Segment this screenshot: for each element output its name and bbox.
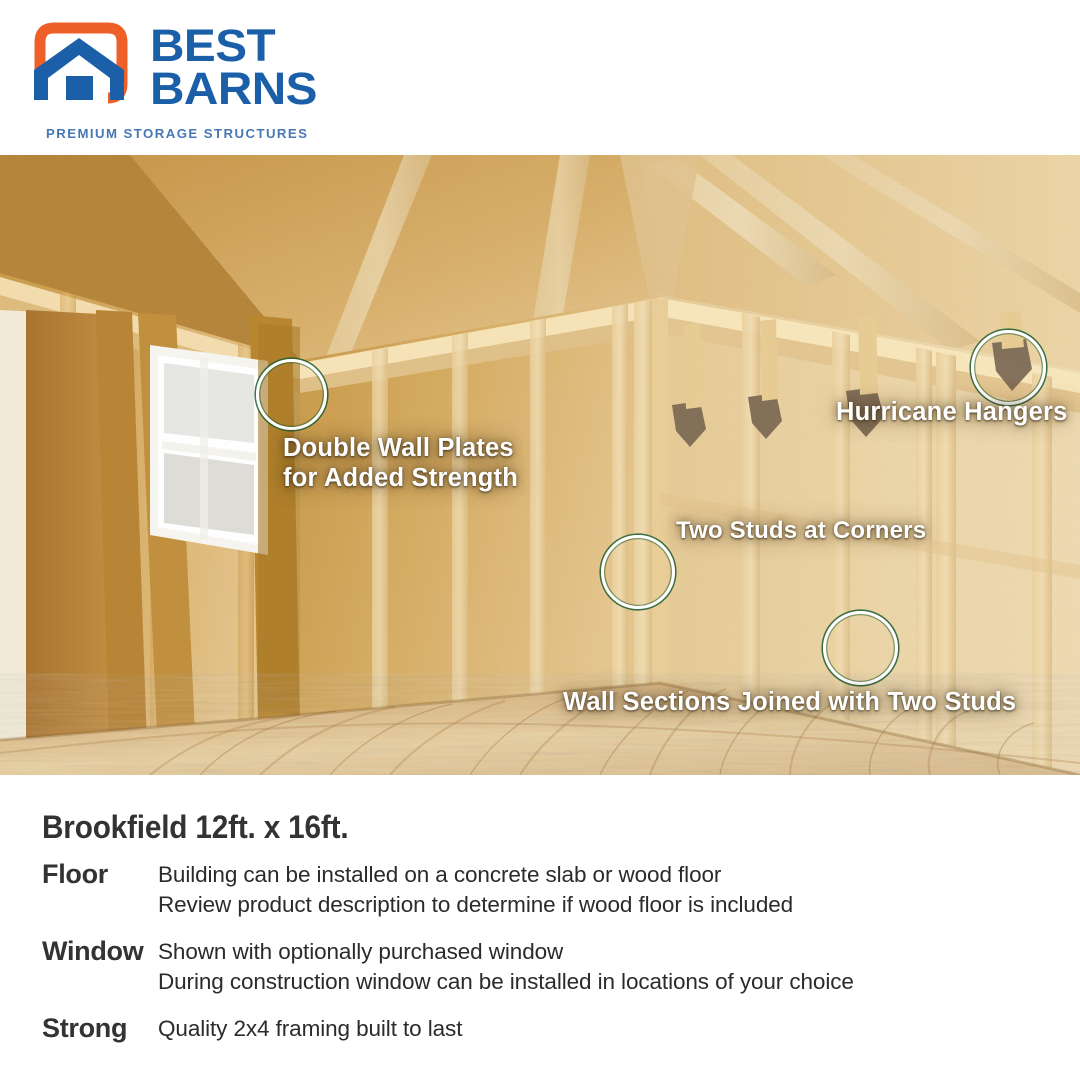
best-barns-logo[interactable]: BEST BARNS PREMIUM STORAGE STRUCTURES — [22, 18, 322, 136]
spec-line: Building can be installed on a concrete … — [158, 860, 1080, 890]
spec-line: Shown with optionally purchased window — [158, 937, 1080, 967]
spec-body-floor: Building can be installed on a concrete … — [158, 857, 1080, 920]
spec-label-strong: Strong — [0, 1011, 158, 1045]
spec-line: During construction window can be instal… — [158, 967, 1080, 997]
spec-row-strong: Strong Quality 2x4 framing built to last — [0, 1011, 1080, 1045]
spec-line: Review product description to determine … — [158, 890, 1080, 920]
shed-interior-photo: Double Wall Plates for Added Strength Hu… — [0, 155, 1080, 775]
spec-row-window: Window Shown with optionally purchased w… — [0, 934, 1080, 997]
photo-illustration — [0, 155, 1080, 775]
product-info-graphic: BEST BARNS PREMIUM STORAGE STRUCTURES — [0, 0, 1080, 1080]
spec-body-window: Shown with optionally purchased window D… — [158, 934, 1080, 997]
logo-wordmark: BEST BARNS — [150, 24, 330, 116]
spec-row-floor: Floor Building can be installed on a con… — [0, 857, 1080, 920]
logo-tagline: PREMIUM STORAGE STRUCTURES — [46, 126, 308, 141]
logo-word-barns: BARNS — [150, 67, 341, 110]
spec-list: Floor Building can be installed on a con… — [0, 857, 1080, 1059]
logo-word-best: BEST — [150, 24, 341, 67]
spec-body-strong: Quality 2x4 framing built to last — [158, 1011, 1080, 1044]
spec-section: Brookfield 12ft. x 16ft. Floor Building … — [0, 775, 1080, 1080]
spec-label-floor: Floor — [0, 857, 158, 891]
product-title: Brookfield 12ft. x 16ft. — [42, 809, 348, 846]
spec-label-window: Window — [0, 934, 158, 968]
spec-line: Quality 2x4 framing built to last — [158, 1014, 1080, 1044]
header: BEST BARNS PREMIUM STORAGE STRUCTURES — [0, 0, 1080, 155]
barn-house-icon — [22, 20, 132, 112]
